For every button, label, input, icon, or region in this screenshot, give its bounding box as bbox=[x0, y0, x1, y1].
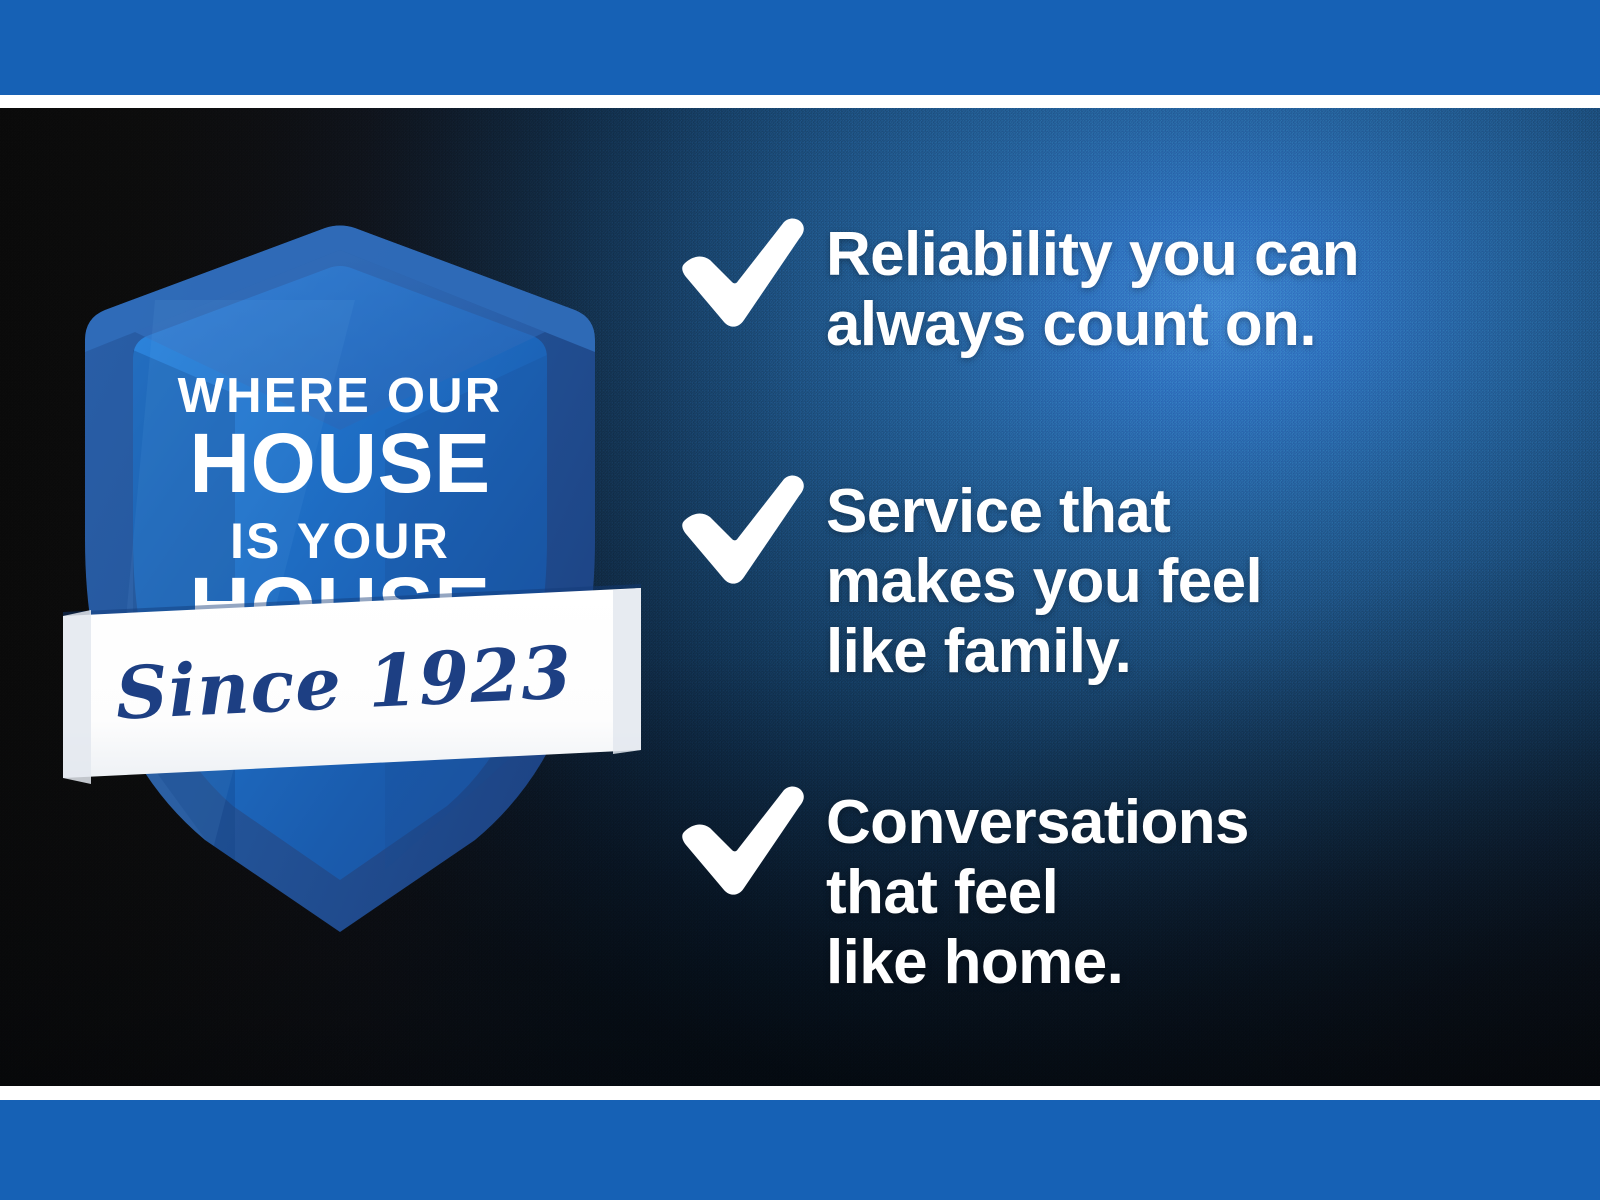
benefit-text-1: Reliability you can always count on. bbox=[826, 216, 1486, 360]
bottom-white-divider bbox=[0, 1086, 1600, 1100]
checkmark-icon bbox=[672, 216, 808, 332]
benefits-list: Reliability you can always count on. Ser… bbox=[672, 108, 1552, 1086]
bottom-brand-bar bbox=[0, 1100, 1600, 1200]
top-white-divider bbox=[0, 95, 1600, 108]
benefit-text-2: Service that makes you feel like family. bbox=[826, 473, 1426, 687]
checkmark-icon bbox=[672, 784, 808, 900]
benefit-text-3: Conversations that feel like home. bbox=[826, 784, 1446, 998]
since-banner: Since 1923 bbox=[63, 584, 641, 784]
benefit-item-2: Service that makes you feel like family. bbox=[672, 473, 1426, 687]
top-brand-bar bbox=[0, 0, 1600, 95]
shield-badge: WHERE OUR HOUSE IS YOUR HOUSE Since 1923 bbox=[55, 180, 645, 940]
benefit-item-1: Reliability you can always count on. bbox=[672, 216, 1486, 360]
checkmark-icon bbox=[672, 473, 808, 589]
promo-poster: WHERE OUR HOUSE IS YOUR HOUSE Since 1923 bbox=[0, 0, 1600, 1200]
benefit-item-3: Conversations that feel like home. bbox=[672, 784, 1446, 998]
shield-line-2: HOUSE bbox=[189, 416, 490, 510]
shield-line-1: WHERE OUR bbox=[178, 369, 503, 423]
